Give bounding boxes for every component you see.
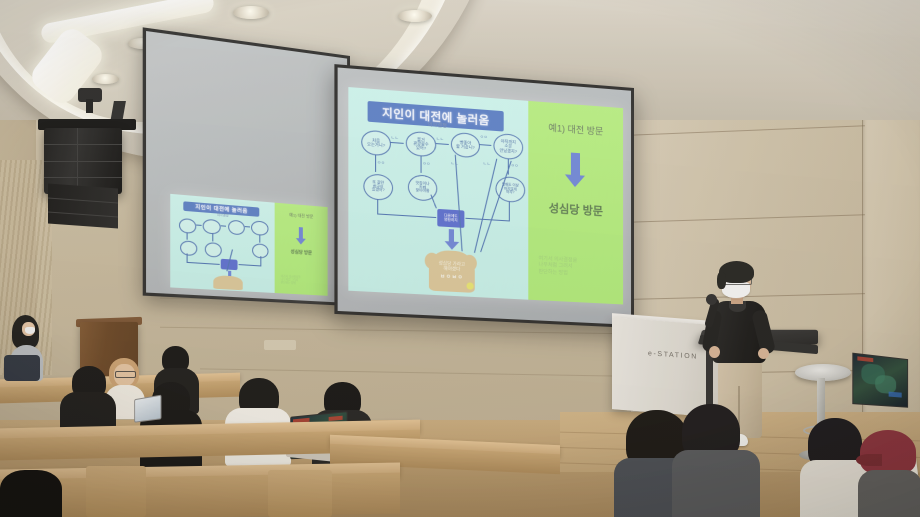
projector-mount-arm	[86, 99, 93, 113]
bench-back	[86, 466, 146, 517]
downlight-icon	[92, 74, 119, 84]
wall-marking	[264, 340, 296, 350]
flow-node	[228, 220, 245, 236]
panel-footnote: 여기서 의사결정을 나무처럼 그려서 판단하는 방법	[538, 256, 619, 279]
flow-node-5: 또 갈만 한곳이 있겠어?	[363, 173, 393, 201]
student-foreground-mid	[672, 404, 760, 517]
down-arrow-head	[565, 174, 585, 187]
bread-graphic	[213, 275, 242, 290]
left-screen-slide: 지인이 대전에 놀러옴 의사결정	[170, 194, 327, 296]
presenter-hand-left	[709, 346, 720, 358]
lecture-hall-photo: 지인이 대전에 놀러옴 의사결정	[0, 0, 920, 517]
bench-back	[268, 470, 332, 517]
edge-label: ㄴㄴ	[391, 135, 399, 142]
student-bag	[4, 355, 40, 381]
flow-edge	[479, 144, 491, 146]
flow-edge	[435, 143, 449, 145]
flow-edge	[377, 213, 436, 218]
edge-label: ㅇㅇ	[423, 161, 431, 168]
edge-label: ㄴㄴ	[451, 161, 459, 168]
edge-label: ㅇㅇ	[377, 160, 385, 167]
flow-node	[205, 242, 222, 258]
main-slide: 지인이 대전에 놀러옴 의사결정 처음 오는거니? 볼거 관광할수 있어? 빵좋…	[348, 87, 623, 304]
butter-icon	[466, 282, 473, 290]
flow-edge	[509, 201, 510, 221]
panel-heading-small: 예1) 대전 방문	[277, 211, 326, 221]
flow-edge	[465, 218, 509, 222]
panel-result-small: 성심당 방문	[277, 248, 326, 257]
presenter-hand-right	[758, 348, 769, 359]
flow-node-1: 처음 오는거니?	[361, 130, 391, 157]
edge-label: ㅇㅇ	[480, 134, 488, 141]
edge-label: ㄴㄴ	[436, 136, 444, 143]
edge-label: ㄴㄴ	[483, 161, 491, 168]
flow-edge	[377, 199, 378, 215]
down-arrow-head	[445, 241, 460, 250]
flow-edge	[375, 154, 376, 172]
flow-node-4: 아직까지 소문 안났겠지?	[493, 133, 523, 161]
panel-heading: 예1) 대전 방문	[530, 119, 621, 139]
flow-node	[180, 240, 197, 256]
down-arrow	[571, 153, 580, 178]
flow-edge	[455, 155, 463, 251]
ceiling-speaker-lower	[48, 184, 118, 229]
panel-footnote-small: 여기서 의사결정을 나무처럼 그려서 판단하는 방법	[281, 275, 325, 287]
tablet-device[interactable]	[134, 395, 161, 423]
laptop-right[interactable]	[852, 353, 908, 408]
left-projection-screen: 지인이 대전에 놀러옴 의사결정	[143, 27, 350, 306]
bread-text: 성심당 가라고 해야겠다	[439, 260, 466, 272]
student-foreground-left-dark	[0, 470, 70, 517]
right-projection-screen: 지인이 대전에 놀러옴 의사결정 처음 오는거니? 볼거 관광할수 있어? 빵좋…	[334, 64, 634, 328]
downlight-icon	[233, 6, 269, 19]
presenter-hair-side	[717, 272, 726, 289]
panel-result: 성심당 방문	[530, 198, 621, 220]
bread-tag: ㅂㅇㅂㅇ	[440, 275, 463, 282]
flow-node-2: 볼거 관광할수 있어?	[406, 131, 436, 158]
flow-edge	[421, 155, 422, 173]
edge-label: ㅇㅇ	[511, 163, 519, 170]
student-maroon-cap	[856, 430, 920, 517]
microphone-head-icon	[706, 294, 717, 305]
downlight-icon	[398, 10, 432, 22]
flow-edge	[390, 142, 404, 144]
